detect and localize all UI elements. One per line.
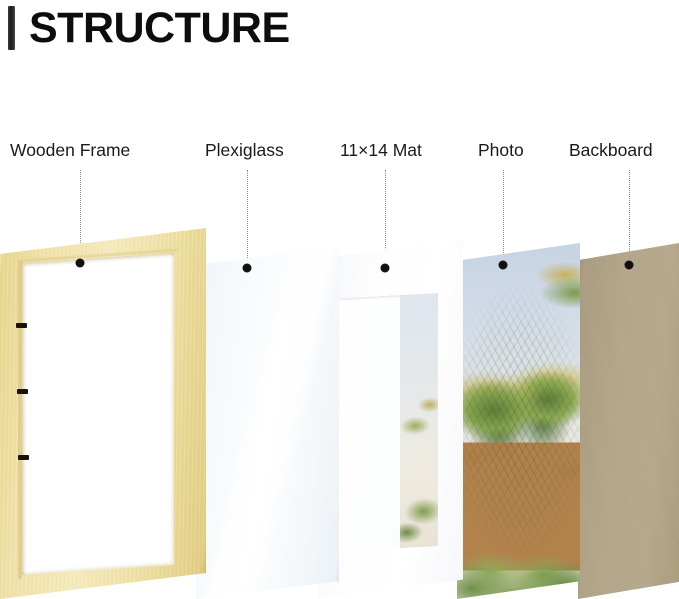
plexiglass-edge-highlight (196, 247, 339, 599)
layer-wooden-frame (0, 228, 206, 599)
frame-clip-top (16, 323, 27, 328)
frame-clip-middle (17, 389, 28, 394)
layer-photo (457, 243, 580, 599)
anchor-dot-plexiglass (243, 264, 252, 273)
leader-line-photo (503, 170, 504, 265)
structure-diagram-page: STRUCTURE (0, 0, 679, 599)
anchor-dot-backboard (625, 261, 634, 270)
photo-edge-highlight (457, 243, 580, 599)
anchor-dot-mat (381, 264, 390, 273)
backboard-shading (578, 243, 679, 599)
anchor-dot-wooden-frame (76, 259, 85, 268)
exploded-layer-stack (0, 0, 679, 599)
layer-backboard (578, 243, 679, 599)
leader-line-backboard (629, 170, 630, 265)
layer-mat (318, 239, 463, 599)
leader-line-plexiglass (247, 170, 248, 268)
label-photo: Photo (478, 139, 524, 161)
label-plexiglass: Plexiglass (205, 139, 284, 161)
mat-edge-highlight (318, 239, 463, 599)
frame-clip-bottom (18, 455, 29, 460)
label-mat: 11×14 Mat (340, 139, 422, 161)
layer-plexiglass (196, 247, 339, 599)
anchor-dot-photo (499, 261, 508, 270)
label-backboard: Backboard (569, 139, 653, 161)
frame-opening (22, 253, 174, 575)
label-wooden-frame: Wooden Frame (10, 139, 130, 161)
